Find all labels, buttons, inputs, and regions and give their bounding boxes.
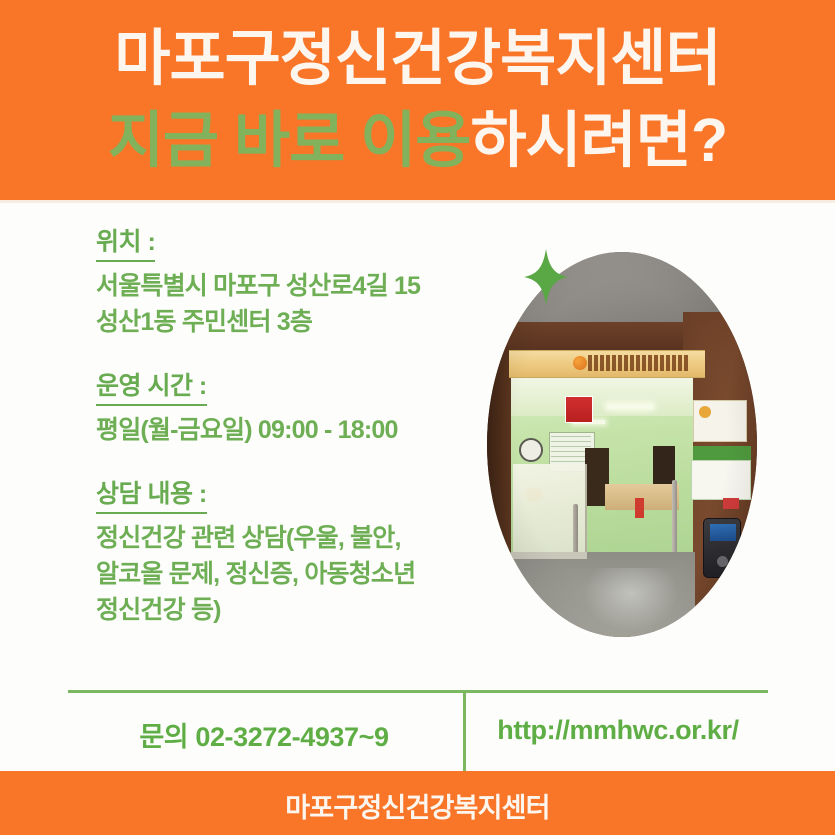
contact-website-link[interactable]: http://mmhwc.or.kr/: [468, 715, 768, 746]
photo-floor-sheen: [583, 568, 679, 632]
header-divider: [0, 200, 835, 203]
info-line-hours-1: 평일(월-금요일) 09:00 - 18:00: [96, 412, 486, 448]
info-block-location: 위치 : 서울특별시 마포구 성산로4길 15 성산1동 주민센터 3층: [96, 226, 486, 340]
info-heading-location: 위치 :: [96, 226, 155, 262]
header-band: 마포구정신건강복지센터 지금 바로 이용하시려면?: [0, 0, 835, 200]
photo-cctv-sign-header: [693, 446, 751, 460]
photo-center-sign-text: [588, 355, 688, 371]
photo-small-red-label: [723, 498, 739, 509]
info-line-counseling-3: 정신건강 등): [96, 592, 486, 628]
info-block-hours: 운영 시간 : 평일(월-금요일) 09:00 - 18:00: [96, 370, 486, 448]
sparkle-star-icon: [524, 249, 568, 305]
photo-threshold: [511, 552, 587, 559]
info-heading-hours: 운영 시간 :: [96, 370, 207, 406]
contact-phone[interactable]: 문의 02-3272-4937~9: [68, 715, 460, 754]
photo-center-sign-logo-icon: [573, 356, 587, 370]
photo-fire-extinguisher: [635, 498, 644, 518]
info-block-counseling: 상담 내용 : 정신건강 관련 상담(우울, 불안, 알코올 문제, 정신증, …: [96, 478, 486, 628]
header-inner: 마포구정신건강복지센터 지금 바로 이용하시려면?: [0, 0, 835, 200]
info-column: 위치 : 서울특별시 마포구 성산로4길 15 성산1동 주민센터 3층 운영 …: [96, 226, 486, 628]
entrance-photo: [487, 252, 757, 637]
info-line-location-2: 성산1동 주민센터 3층: [96, 304, 486, 340]
photo-keypad-button: [717, 556, 728, 567]
footer-org-name: 마포구정신건강복지센터: [0, 786, 835, 825]
poster-root: 마포구정신건강복지센터 지금 바로 이용하시려면? 위치 : 서울특별시 마포구…: [0, 0, 835, 835]
poster-title-line-1: 마포구정신건강복지센터: [0, 28, 835, 89]
poster-title-line-2: 지금 바로 이용하시려면?: [0, 110, 835, 171]
info-line-location-1: 서울특별시 마포구 성산로4길 15: [96, 268, 486, 304]
photo-room-ceiling: [511, 378, 693, 416]
poster-title-highlight: 지금 바로 이용: [108, 106, 471, 174]
poster-title-rest: 하시려면?: [470, 106, 727, 174]
photo-cctv-sign-body: [691, 460, 751, 500]
entrance-photo-ellipse: [487, 252, 757, 637]
contact-divider-vertical: [463, 693, 466, 771]
info-line-counseling-1: 정신건강 관련 상담(우울, 불안,: [96, 520, 486, 556]
photo-ceiling-light-1: [607, 404, 653, 409]
info-heading-counseling: 상담 내용 :: [96, 478, 207, 514]
photo-wall-clock-icon: [519, 438, 543, 462]
photo-keypad-screen: [710, 524, 736, 541]
photo-wall-notice-logo-icon: [699, 406, 711, 418]
info-line-counseling-2: 알코올 문제, 정신증, 아동청소년: [96, 556, 486, 592]
photo-red-wall-sign: [565, 396, 593, 423]
contact-divider-horizontal: [68, 690, 768, 693]
